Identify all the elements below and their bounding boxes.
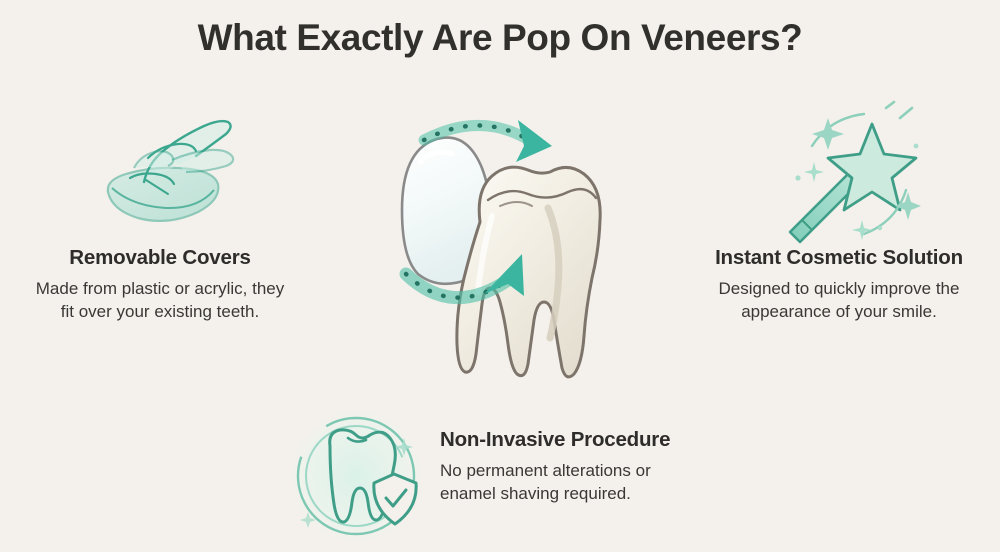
feature-body-line-1: Made from plastic or acrylic, they: [0, 278, 320, 301]
feature-body-line-2: enamel shaving required.: [440, 483, 760, 506]
feature-body: Made from plastic or acrylic, they fit o…: [0, 278, 320, 324]
feature-heading: Removable Covers: [0, 246, 320, 271]
feature-body-line-1: Designed to quickly improve the: [678, 278, 1000, 301]
feature-non-invasive-procedure: Non-Invasive Procedure No permanent alte…: [440, 428, 760, 505]
feature-body: Designed to quickly improve the appearan…: [678, 278, 1000, 324]
magic-wand-icon: [768, 100, 928, 248]
infographic-canvas: What Exactly Are Pop On Veneers? Remov: [0, 0, 1000, 552]
feature-instant-cosmetic-solution: Instant Cosmetic Solution Designed to qu…: [678, 246, 1000, 323]
feature-body-line-1: No permanent alterations or: [440, 460, 760, 483]
feature-heading: Non-Invasive Procedure: [440, 428, 760, 453]
veneer-applied-to-tooth-illustration: [372, 112, 652, 402]
feature-heading: Instant Cosmetic Solution: [678, 246, 1000, 271]
page-title: What Exactly Are Pop On Veneers?: [0, 18, 1000, 59]
hand-placing-veneer-icon: [86, 108, 256, 234]
feature-removable-covers: Removable Covers Made from plastic or ac…: [0, 246, 320, 323]
feature-body: No permanent alterations or enamel shavi…: [440, 460, 760, 506]
feature-body-line-2: fit over your existing teeth.: [0, 301, 320, 324]
feature-body-line-2: appearance of your smile.: [678, 301, 1000, 324]
tooth-shield-icon: [286, 404, 426, 548]
